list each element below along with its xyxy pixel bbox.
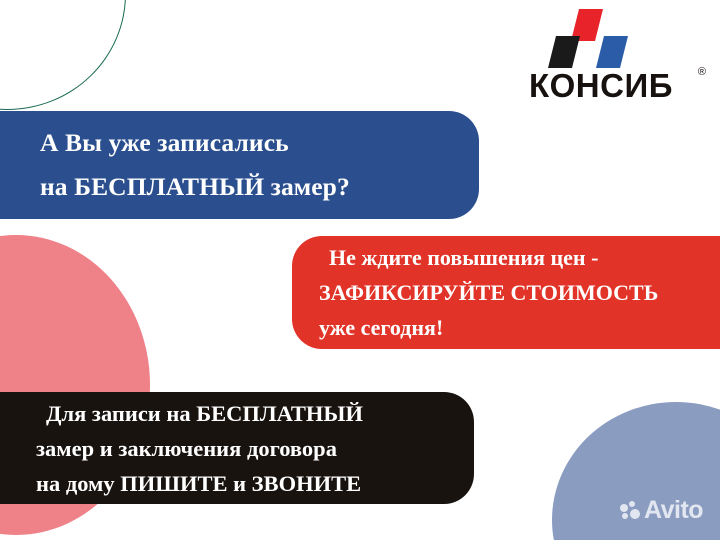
banner-blue-line-2: на БЕСПЛАТНЫЙ замер? bbox=[40, 165, 479, 209]
promo-poster: КОНСИБ ® А Вы уже записались на БЕСПЛАТН… bbox=[0, 0, 720, 540]
banner-red-line-2: ЗАФИКСИРУЙТЕ СТОИМОСТЬ bbox=[319, 275, 720, 310]
konsib-logo-mark-icon bbox=[548, 8, 634, 70]
registered-trademark-icon: ® bbox=[698, 66, 706, 78]
banner-red-line-3: уже сегодня! bbox=[319, 310, 720, 345]
green-ring-decoration bbox=[0, 0, 126, 110]
banner-red-line-1: Не ждите повышения цен - bbox=[319, 240, 720, 275]
avito-watermark-label: Avito bbox=[644, 498, 703, 523]
avito-dots-icon bbox=[620, 501, 640, 521]
company-logo: КОНСИБ ® bbox=[521, 8, 706, 106]
logo-wordmark-row: КОНСИБ ® bbox=[521, 68, 706, 106]
banner-blue-question: А Вы уже записались на БЕСПЛАТНЫЙ замер? bbox=[0, 111, 479, 219]
banner-black-line-1: Для записи на БЕСПЛАТНЫЙ bbox=[36, 396, 474, 431]
banner-black-line-3: на дому ПИШИТЕ и ЗВОНИТЕ bbox=[36, 466, 474, 501]
banner-blue-line-1: А Вы уже записались bbox=[40, 121, 479, 165]
banner-red-urgency: Не ждите повышения цен - ЗАФИКСИРУЙТЕ СТ… bbox=[292, 236, 720, 349]
banner-black-call-to-action: Для записи на БЕСПЛАТНЫЙ замер и заключе… bbox=[0, 392, 474, 504]
banner-black-line-2: замер и заключения договора bbox=[36, 431, 474, 466]
logo-wordmark-text: КОНСИБ bbox=[529, 68, 673, 104]
avito-watermark: Avito bbox=[620, 498, 703, 523]
